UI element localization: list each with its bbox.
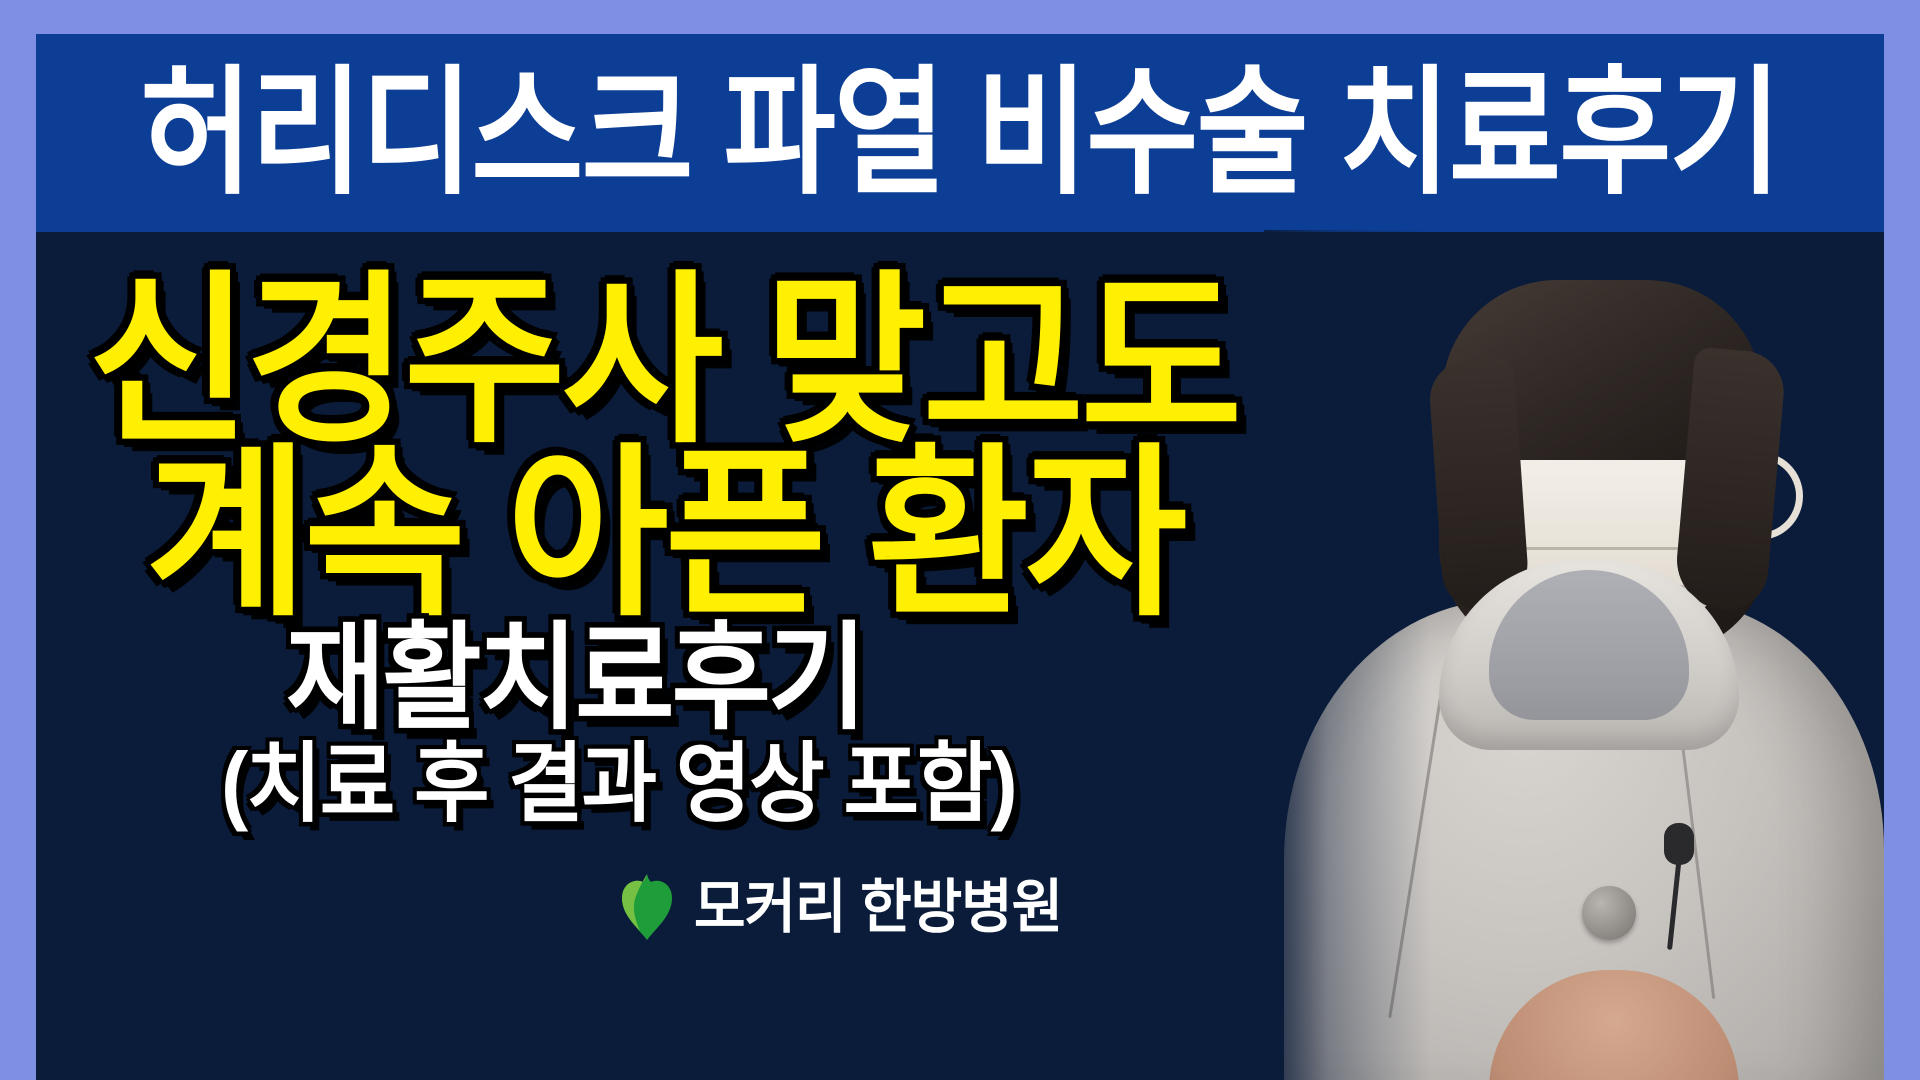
hospital-name: 모커리 한방병원 <box>694 878 1062 937</box>
headline-block: 신경주사 맞고도 계속 아픈 환자 재활치료후기 (치료 후 결과 영상 포함)… <box>36 232 1336 1080</box>
headline-line-2: 계속 아픈 환자 <box>146 443 1183 628</box>
headline-line-1: 신경주사 맞고도 <box>88 270 1238 455</box>
green-leaf-heart-icon <box>616 872 678 942</box>
banner-title: 허리디스크 파열 비수술 치료후기 <box>140 63 1779 202</box>
thumbnail-card: 허리디스크 파열 비수술 치료후기 <box>36 34 1884 1080</box>
note-text: (치료 후 결과 영상 포함) <box>221 742 1016 829</box>
thumbnail-canvas: 허리디스크 파열 비수술 치료후기 <box>0 0 1920 1080</box>
hospital-logo: 모커리 한방병원 <box>616 872 1062 942</box>
coat-button <box>1582 886 1636 940</box>
header-banner: 허리디스크 파열 비수술 치료후기 <box>36 34 1884 232</box>
subtitle-text: 재활치료후기 <box>286 620 864 737</box>
subject-photo <box>1264 230 1884 1080</box>
lapel-microphone-icon <box>1664 823 1694 865</box>
